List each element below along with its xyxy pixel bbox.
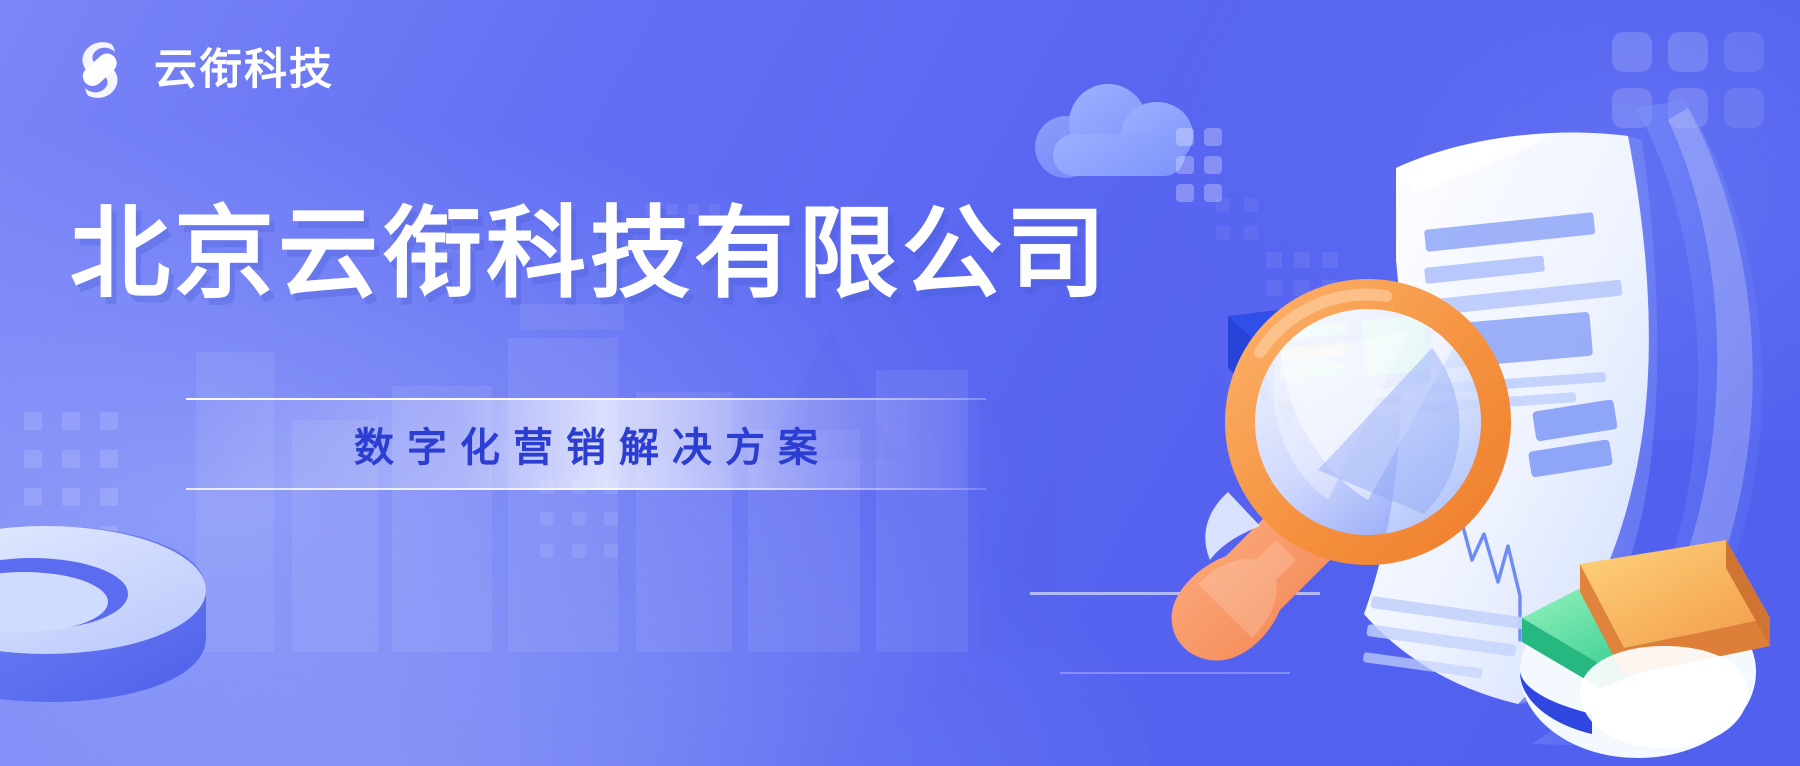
document-tile [1528,439,1613,478]
document-highlight-block [1380,312,1593,374]
chat-thumbnail-green [1362,315,1429,376]
page-title: 北京云衔科技有限公司 [70,196,1110,312]
logo-text: 云衔科技 [154,49,334,92]
page-subtitle: 数字化营销解决方案 [186,398,986,490]
illustration-dot-grid [1176,128,1222,202]
document-line [1376,372,1606,398]
chat-bar-green [1280,322,1347,340]
magnifying-glass [1240,294,1496,550]
document-tile [1532,399,1618,441]
ribbon-shape [1532,100,1762,746]
document-line [1424,212,1595,252]
accent-line-2 [1060,672,1290,674]
logo[interactable]: 云衔科技 [64,34,334,106]
dot-grid-left [24,412,118,544]
report-document [1364,133,1649,704]
skyline-bar-8 [980,400,1058,652]
chat-bar-orange [1280,342,1347,360]
pie-slice-blue [1520,672,1592,734]
skyline-bar-4 [508,338,618,652]
yunxian-s-swirl-logo-icon [64,34,136,106]
accent-line-1 [1030,592,1320,595]
3d-pie-chart [1520,540,1770,758]
pie-slice-green [1522,578,1678,664]
rounded-square-grid-icon [1612,32,1764,128]
dot-grid-mid [540,480,618,558]
document-line [1370,596,1542,632]
3d-ring-platform-icon [0,498,212,718]
zigzag-line-chart [1458,508,1520,640]
cloud-icon [1035,76,1205,168]
magnifier-handle [1172,506,1330,661]
dot-grid-right-low [1216,198,1258,240]
document-line [1424,255,1545,283]
chat-bar-green [1280,362,1347,380]
pie-slice-orange [1580,540,1770,648]
marketing-banner: 云衔科技 北京云衔科技有限公司 数字化营销解决方案 [0,0,1800,766]
marketing-illustration [1080,0,1800,766]
dot-grid-illustration [1266,252,1338,296]
document-line [1363,652,1483,679]
document-line [1366,624,1516,657]
skyline-bar-1 [196,352,274,652]
document-line [1376,392,1576,416]
background-glow-top-right [1180,0,1800,440]
document-line [1426,280,1623,316]
chat-bubble-card [1228,296,1430,428]
